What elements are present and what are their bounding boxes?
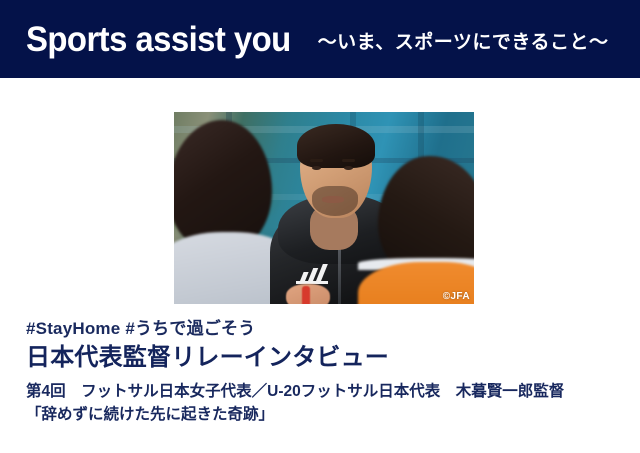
article-photo: ©JFA: [174, 112, 474, 304]
red-marker: [302, 286, 310, 304]
photo-credit: ©JFA: [443, 292, 470, 302]
banner-text-group: Sports assist you 〜いま、スポーツにできること〜: [26, 0, 609, 78]
coach-mouth: [322, 196, 344, 203]
photo-scene: ©JFA: [174, 112, 474, 304]
coach-eyebrow: [342, 159, 355, 162]
coach-eyebrow: [310, 159, 323, 162]
article-quote: 「辞めずに続けた先に起きた奇跡」: [26, 404, 626, 426]
caption-block: #StayHome #うちで過ごそう 日本代表監督リレーインタビュー 第4回 フ…: [26, 318, 626, 426]
article-subtitle: 第4回 フットサル日本女子代表／U-20フットサル日本代表 木暮賢一郎監督: [26, 381, 626, 403]
coach-eye: [312, 166, 321, 170]
header-banner: Sports assist you 〜いま、スポーツにできること〜: [0, 0, 640, 78]
banner-title: Sports assist you: [26, 22, 291, 57]
coach-eye: [344, 166, 353, 170]
hashtags: #StayHome #うちで過ごそう: [26, 318, 626, 339]
page-title: 日本代表監督リレーインタビュー: [26, 344, 626, 373]
banner-subtitle: 〜いま、スポーツにできること〜: [318, 33, 609, 52]
coach-hair: [297, 124, 375, 168]
